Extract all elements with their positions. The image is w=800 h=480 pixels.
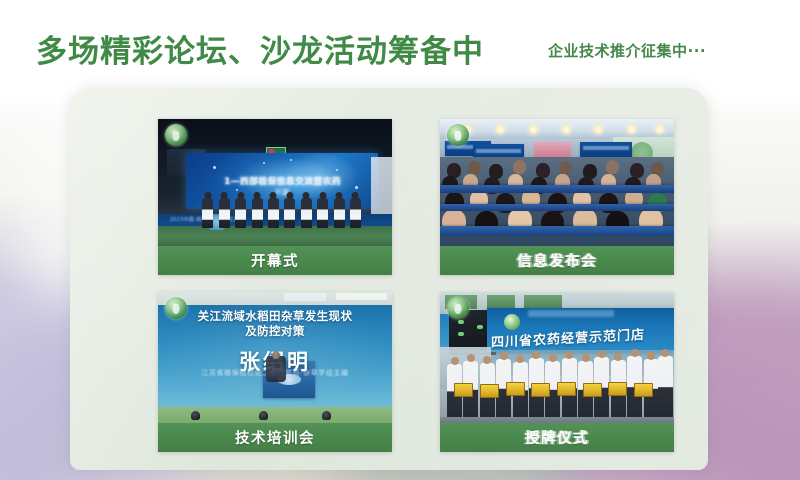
slide-title-line-2: 及防控对策 (165, 324, 385, 339)
gallery-panel-plaque-awarding-ceremony[interactable]: 四川省农药经营示范门店 (440, 292, 674, 452)
photo-scene-opening-ceremony: 1—西部植保信息交流暨农药 开幕 2023中国·西部植保信息交流会 (158, 119, 392, 246)
hall-banner (580, 142, 631, 157)
projection-screen: 关江流域水稻田杂草发生现状 及防控对策 张绍明 江苏省植保植检站二级研究员·杂草… (158, 305, 392, 407)
photo-scene-training-slide: 关江流域水稻田杂草发生现状 及防控对策 张绍明 江苏省植保植检站二级研究员·杂草… (158, 292, 392, 423)
photo-gallery-grid: 1—西部植保信息交流暨农药 开幕 2023中国·西部植保信息交流会 (0, 0, 800, 480)
stage-person (252, 198, 263, 228)
speaker-silhouette (266, 356, 286, 382)
slide-title: 关江流域水稻田杂草发生现状 及防控对策 (165, 309, 385, 339)
microphone-icon (322, 411, 331, 420)
panel-caption-information-release-conference: 信息发布会 (440, 246, 674, 275)
stage-person (317, 198, 328, 228)
stage-person (334, 198, 345, 228)
stage-person (202, 198, 213, 228)
award-ceremony-banner: 四川省农药经营示范门店 (487, 308, 674, 353)
ceiling-lamp-icon (562, 125, 571, 134)
photo-information-release-conference (440, 119, 674, 246)
stage-person (301, 198, 312, 228)
award-plaque (506, 382, 525, 396)
panel-caption-technical-training-session: 技术培训会 (158, 423, 392, 452)
award-recipients-row (440, 347, 674, 423)
stage-person (235, 198, 246, 228)
gallery-panel-opening-ceremony[interactable]: 1—西部植保信息交流暨农药 开幕 2023中国·西部植保信息交流会 (158, 119, 392, 275)
photo-opening-ceremony: 1—西部植保信息交流暨农药 开幕 2023中国·西部植保信息交流会 (158, 119, 392, 246)
circular-green-logo-icon (447, 297, 469, 319)
photo-scene-audience (440, 119, 674, 246)
award-plaque (454, 383, 473, 397)
panel-caption-opening-ceremony: 开幕式 (158, 246, 392, 275)
stage-person (219, 198, 230, 228)
photo-scene-award-ceremony: 四川省农药经营示范门店 (440, 292, 674, 423)
panel-caption-plaque-awarding-ceremony: 授牌仪式 (440, 423, 674, 452)
photo-technical-training-session: 关江流域水稻田杂草发生现状 及防控对策 张绍明 江苏省植保植检站二级研究员·杂草… (158, 292, 392, 423)
gallery-panel-information-release-conference[interactable]: 信息发布会 (440, 119, 674, 275)
circular-green-logo-icon (165, 124, 187, 146)
award-plaque (583, 383, 602, 397)
audience-desk-row (440, 185, 674, 192)
award-plaque (608, 382, 627, 396)
photo-plaque-awarding-ceremony: 四川省农药经营示范门店 (440, 292, 674, 423)
microphone-icon (259, 411, 268, 420)
slide-title-line-1: 关江流域水稻田杂草发生现状 (198, 309, 353, 323)
audience-desk-row (440, 226, 674, 235)
stage-person (284, 198, 295, 228)
microphone-icon (191, 411, 200, 420)
circular-green-logo-icon (165, 297, 187, 319)
stage-person (268, 198, 279, 228)
audience-crowd (440, 157, 674, 236)
stage-person (350, 198, 361, 228)
award-plaque (531, 383, 550, 397)
recipient-person (658, 356, 673, 423)
circular-green-logo-icon (447, 124, 469, 146)
stage-green-floor (158, 226, 392, 246)
room-upper-wall (158, 292, 392, 305)
award-plaque (480, 384, 499, 398)
audience-desk-row (440, 204, 674, 211)
award-plaque (557, 382, 576, 396)
gallery-panel-technical-training-session[interactable]: 关江流域水稻田杂草发生现状 及防控对策 张绍明 江苏省植保植检站二级研究员·杂草… (158, 292, 392, 452)
banner-logo-icon (504, 314, 520, 330)
award-plaque (634, 383, 653, 397)
